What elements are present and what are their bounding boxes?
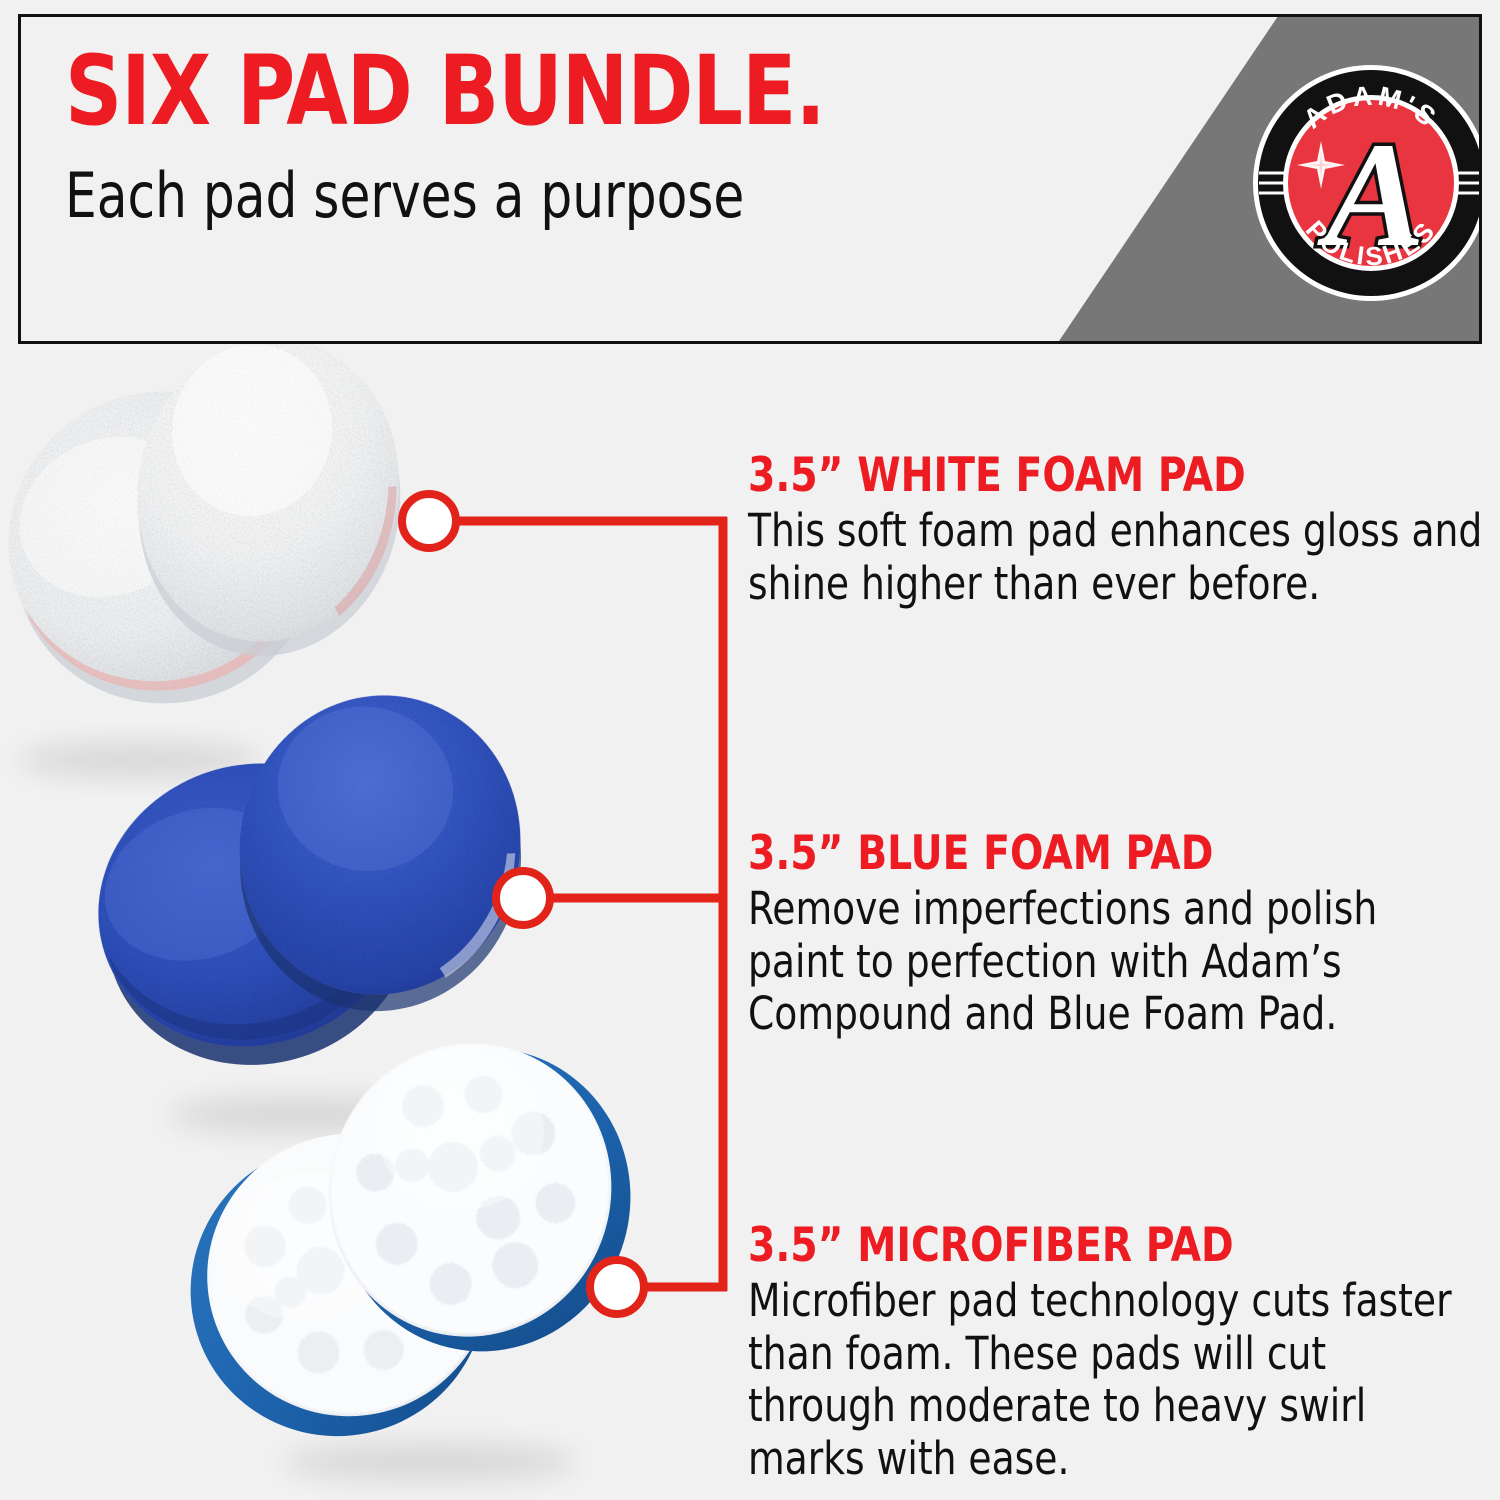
feature-heading-blue-foam: 3.5” BLUE FOAM PAD (748, 830, 1436, 877)
feature-block-white-foam: 3.5” WHITE FOAM PAD This soft foam pad e… (748, 452, 1488, 610)
feature-block-blue-foam: 3.5” BLUE FOAM PAD Remove imperfections … (748, 830, 1488, 1041)
white-foam-pad-pair (0, 318, 426, 749)
page-subtitle: Each pad serves a purpose (65, 165, 808, 227)
adams-polishes-logo: A ADAM'S POLISHES (1251, 63, 1482, 303)
feature-heading-white-foam: 3.5” WHITE FOAM PAD (748, 452, 1436, 499)
title-block: SIX PAD BUNDLE. Each pad serves a purpos… (65, 43, 891, 227)
feature-body-microfiber: Microfiber pad technology cuts faster th… (748, 1275, 1483, 1486)
feature-body-white-foam: This soft foam pad enhances gloss and sh… (748, 505, 1483, 610)
microfiber-pad-pair (148, 1013, 663, 1477)
infographic-canvas: SIX PAD BUNDLE. Each pad serves a purpos… (0, 0, 1500, 1500)
page-title: SIX PAD BUNDLE. (65, 43, 825, 139)
feature-body-blue-foam: Remove imperfections and polish paint to… (748, 883, 1483, 1041)
blue-foam-pad-pair (61, 669, 552, 1105)
feature-block-microfiber: 3.5” MICROFIBER PAD Microfiber pad techn… (748, 1222, 1488, 1486)
header-banner: SIX PAD BUNDLE. Each pad serves a purpos… (18, 14, 1482, 344)
feature-heading-microfiber: 3.5” MICROFIBER PAD (748, 1222, 1436, 1269)
